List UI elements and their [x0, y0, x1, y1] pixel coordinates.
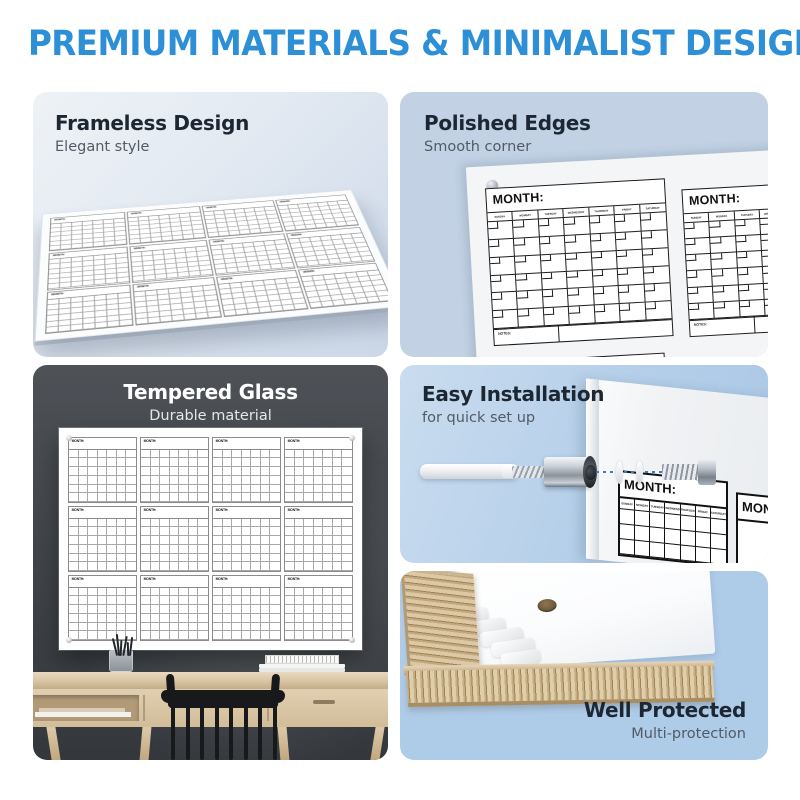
day-cells — [141, 588, 208, 640]
chair-spindle — [171, 702, 175, 760]
bolt-shaft — [662, 464, 702, 480]
mounting-screw-icon — [349, 435, 355, 441]
month-block: MONTH: SUNDAYMONDAYTUESDAYWEDNESDAYTHURS… — [485, 178, 674, 346]
month-header: MONTH: — [69, 507, 136, 519]
caption-easy-installation: Easy Installation for quick set up — [422, 383, 604, 426]
pen — [129, 637, 133, 656]
drawer-divider — [143, 695, 145, 721]
room-scene-image: Tempered Glass Durable material MONTH:MO… — [33, 365, 388, 760]
month-label: MONTH: — [213, 239, 225, 242]
weekday-label: SUNDAY — [684, 213, 710, 222]
weekday-label: SUNDAY — [487, 212, 513, 221]
month-header: MONTH: — [134, 278, 214, 292]
month-block: MONTH: — [68, 575, 137, 641]
day-cells — [285, 450, 352, 502]
month-block: MONTH: SUNDAYMONDAYTUESDAYWEDNESDAYTHURS… — [681, 179, 768, 337]
bolt-head — [698, 459, 716, 485]
month-label: MONTH: — [288, 577, 300, 581]
caption-frameless-design: Frameless Design Elegant style — [55, 112, 249, 155]
weekday-label: WEDNESDAY — [665, 503, 680, 515]
month-header: MONTH: — [285, 438, 352, 450]
month-label: MONTH: — [51, 292, 63, 296]
drawer-handle — [313, 700, 335, 704]
weekday-label: TUESDAY — [650, 501, 665, 513]
day-cells — [488, 212, 672, 329]
washer — [616, 461, 623, 484]
panel-polished-edges: Polished Edges Smooth corner MONTH: SUND… — [400, 92, 768, 357]
panel-subtitle: for quick set up — [422, 410, 604, 426]
desk-shelf — [33, 695, 139, 721]
day-cells — [204, 206, 282, 237]
day-cells — [131, 246, 212, 282]
month-label: MONTH: — [137, 284, 149, 288]
month-header: MONTH: — [738, 494, 768, 527]
month-label: MONTH: — [144, 577, 156, 581]
month-label: MONTH: — [53, 253, 65, 257]
infographic-page: PREMIUM MATERIALS & MINIMALIST DESIGN Fr… — [0, 0, 800, 800]
month-header: MONTH: — [285, 576, 352, 588]
month-label: MONTH: — [288, 508, 300, 512]
day-cells — [69, 588, 136, 640]
panel-title: Frameless Design — [55, 112, 249, 135]
month-header: MONTH: — [682, 180, 768, 214]
month-label: MONTH: — [144, 508, 156, 512]
pens — [111, 634, 133, 656]
month-block: MONTH: — [216, 270, 308, 317]
month-label: MONTH: — [216, 508, 228, 512]
washer — [636, 461, 643, 484]
desk-leg — [370, 727, 384, 760]
month-header: MONTH: — [213, 507, 280, 519]
caption-tempered-glass: Tempered Glass Durable material — [33, 381, 388, 424]
month-label: MONTH: — [72, 508, 84, 512]
day-cells — [69, 519, 136, 571]
desk-leg — [140, 727, 152, 760]
day-cells — [213, 450, 280, 502]
month-label: MONTH: — [221, 277, 233, 281]
weekday-label: FRIDAY — [614, 205, 640, 214]
month-block: MONTH: — [133, 277, 222, 325]
weekday-label: TUESDAY — [735, 210, 761, 219]
month-block: MONTH: — [140, 437, 209, 503]
month-label: MONTH: — [54, 218, 65, 221]
caption-polished-edges: Polished Edges Smooth corner — [424, 112, 591, 155]
spiral-notebook — [265, 655, 339, 664]
chair-spindle — [229, 702, 233, 760]
weekday-label: MONDAY — [513, 210, 539, 219]
month-grid: MONTH:MONTH:MONTH:MONTH:MONTH:MONTH:MONT… — [45, 194, 388, 334]
header: PREMIUM MATERIALS & MINIMALIST DESIGN — [0, 24, 800, 64]
day-cells — [141, 450, 208, 502]
day-cells — [278, 200, 358, 231]
screw-head — [585, 465, 596, 480]
tilted-board-image: MONTH:MONTH:MONTH:MONTH:MONTH:MONTH:MONT… — [41, 164, 381, 350]
day-cells — [213, 519, 280, 571]
month-label: MONTH: — [206, 206, 217, 209]
month-block: MONTH: — [140, 575, 209, 641]
day-cells — [302, 270, 388, 308]
calendar-area: MONTH: SUNDAYMONDAYTUESDAYWEDNESDAYTHURS… — [485, 169, 768, 357]
panel-subtitle: Multi-protection — [584, 726, 746, 742]
month-label: MONTH: — [280, 200, 291, 203]
day-cells — [128, 212, 205, 244]
month-block: MONTH: — [212, 506, 281, 572]
month-label: MONTH: — [689, 191, 741, 208]
month-header: MONTH: — [285, 507, 352, 519]
panel-subtitle: Durable material — [33, 408, 388, 424]
day-cells — [684, 213, 768, 320]
month-label: MONTH: — [216, 577, 228, 581]
month-grid: MONTH:MONTH:MONTH:MONTH:MONTH:MONTH:MONT… — [68, 437, 353, 641]
month-block: MONTH: — [127, 206, 206, 244]
day-cells — [285, 588, 352, 640]
month-label: MONTH: — [742, 499, 768, 519]
month-block: MONTH: — [47, 246, 130, 290]
panel-title: Well Protected — [584, 699, 746, 722]
month-label: MONTH: — [72, 439, 84, 443]
month-header: MONTH: — [69, 438, 136, 450]
month-label: MONTH: — [72, 577, 84, 581]
caption-well-protected: Well Protected Multi-protection — [584, 699, 746, 742]
month-header: MONTH: — [217, 271, 297, 285]
weekday-label: TUESDAY — [538, 209, 564, 218]
day-cells — [213, 588, 280, 640]
month-block: MONTH: — [209, 233, 295, 275]
month-block: MONTH: — [284, 506, 353, 572]
day-cells — [134, 285, 220, 325]
month-label: MONTH: — [290, 233, 302, 236]
month-block: MONTH: — [212, 575, 281, 641]
chair — [161, 668, 285, 760]
wall-anchor — [420, 464, 516, 479]
chair-spindle — [215, 702, 219, 760]
month-header: MONTH: — [141, 576, 208, 588]
day-cells — [289, 233, 374, 267]
month-block: MONTH: — [202, 200, 283, 238]
weekday-label: MONDAY — [709, 211, 735, 220]
month-label: MONTH: — [303, 270, 315, 274]
month-header: MONTH: — [48, 285, 130, 299]
panel-title: Polished Edges — [424, 112, 591, 135]
notes-label: NOTES: — [498, 331, 511, 336]
day-cells — [48, 253, 129, 289]
month-header: MONTH: — [299, 264, 378, 277]
weekday-label: WEDNESDAY — [760, 209, 768, 218]
weekday-label: SUNDAY — [620, 498, 635, 510]
panel-tempered-glass: Tempered Glass Durable material MONTH:MO… — [33, 365, 388, 760]
day-cells — [50, 218, 126, 250]
weekday-label: SATURDAY — [711, 508, 726, 520]
day-cells — [69, 450, 136, 502]
month-block: MONTH: — [49, 212, 127, 251]
month-header: MONTH: — [141, 507, 208, 519]
day-cells — [141, 519, 208, 571]
month-block: MONTH: — [286, 227, 375, 268]
weekday-label: WEDNESDAY — [564, 208, 590, 217]
month-label: MONTH: — [288, 439, 300, 443]
notes-label: NOTES: — [694, 322, 707, 327]
calendar-board: MONTH:MONTH:MONTH:MONTH:MONTH:MONTH:MONT… — [59, 428, 362, 650]
panel-title: Tempered Glass — [33, 381, 388, 404]
chair-spindle — [244, 702, 248, 760]
month-block: MONTH: — [68, 506, 137, 572]
month-block: MONTH: — [45, 285, 133, 334]
chair-spindle — [258, 702, 262, 760]
shelf-paper — [35, 712, 131, 717]
month-header: MONTH: — [213, 438, 280, 450]
weekday-label: MONDAY — [635, 500, 650, 512]
month-block: MONTH: — [212, 437, 281, 503]
standoff-barrel — [544, 457, 590, 487]
chair-spindle — [200, 702, 204, 760]
month-block: MONTH: — [284, 575, 353, 641]
weekday-label: FRIDAY — [696, 506, 711, 518]
month-block: MONTH: — [130, 240, 214, 283]
panel-well-protected: Well Protected Multi-protection — [400, 571, 768, 760]
month-label: MONTH: — [492, 190, 544, 207]
day-cells — [219, 277, 307, 316]
desk-leg — [46, 727, 60, 760]
mounting-screw-icon — [349, 637, 355, 643]
panel-title: Easy Installation — [422, 383, 604, 406]
panel-easy-installation: MONTH: SUNDAYMONDAYTUESDAYWEDNESDAYTHURS… — [400, 365, 768, 563]
day-cells — [285, 519, 352, 571]
panel-frameless-design: Frameless Design Elegant style MONTH:MON… — [33, 92, 388, 357]
chair-spindle — [186, 702, 190, 760]
month-label: MONTH: — [216, 439, 228, 443]
board-closeup-image: MONTH: SUNDAYMONDAYTUESDAYWEDNESDAYTHURS… — [466, 149, 768, 357]
month-block: MONTH: — [275, 194, 359, 231]
chair-spindle — [273, 702, 277, 760]
month-label: MONTH: — [134, 246, 146, 249]
weekday-label: THURSDAY — [589, 206, 615, 215]
day-cells — [211, 240, 294, 275]
day-cells — [46, 292, 132, 333]
mounting-screw-icon — [66, 637, 72, 643]
weekday-label: SATURDAY — [640, 203, 666, 212]
month-label: MONTH: — [131, 212, 142, 215]
month-header: MONTH: — [141, 438, 208, 450]
page-title: PREMIUM MATERIALS & MINIMALIST DESIGN — [28, 24, 772, 64]
month-block: MONTH: — [140, 506, 209, 572]
month-label: MONTH: — [144, 439, 156, 443]
month-header: MONTH: — [69, 576, 136, 588]
calendar-board: MONTH:MONTH:MONTH:MONTH:MONTH:MONTH:MONT… — [35, 190, 388, 342]
panel-subtitle: Elegant style — [55, 139, 249, 155]
screw-thread — [512, 466, 546, 478]
month-block: MONTH: — [736, 492, 768, 563]
mounting-screw-icon — [66, 435, 72, 441]
month-block: MONTH: — [68, 437, 137, 503]
month-block: MONTH: — [284, 437, 353, 503]
month-header: MONTH: — [213, 576, 280, 588]
weekday-label: THURSDAY — [681, 504, 696, 516]
month-block: MONTH: — [298, 263, 388, 309]
panel-subtitle: Smooth corner — [424, 139, 591, 155]
